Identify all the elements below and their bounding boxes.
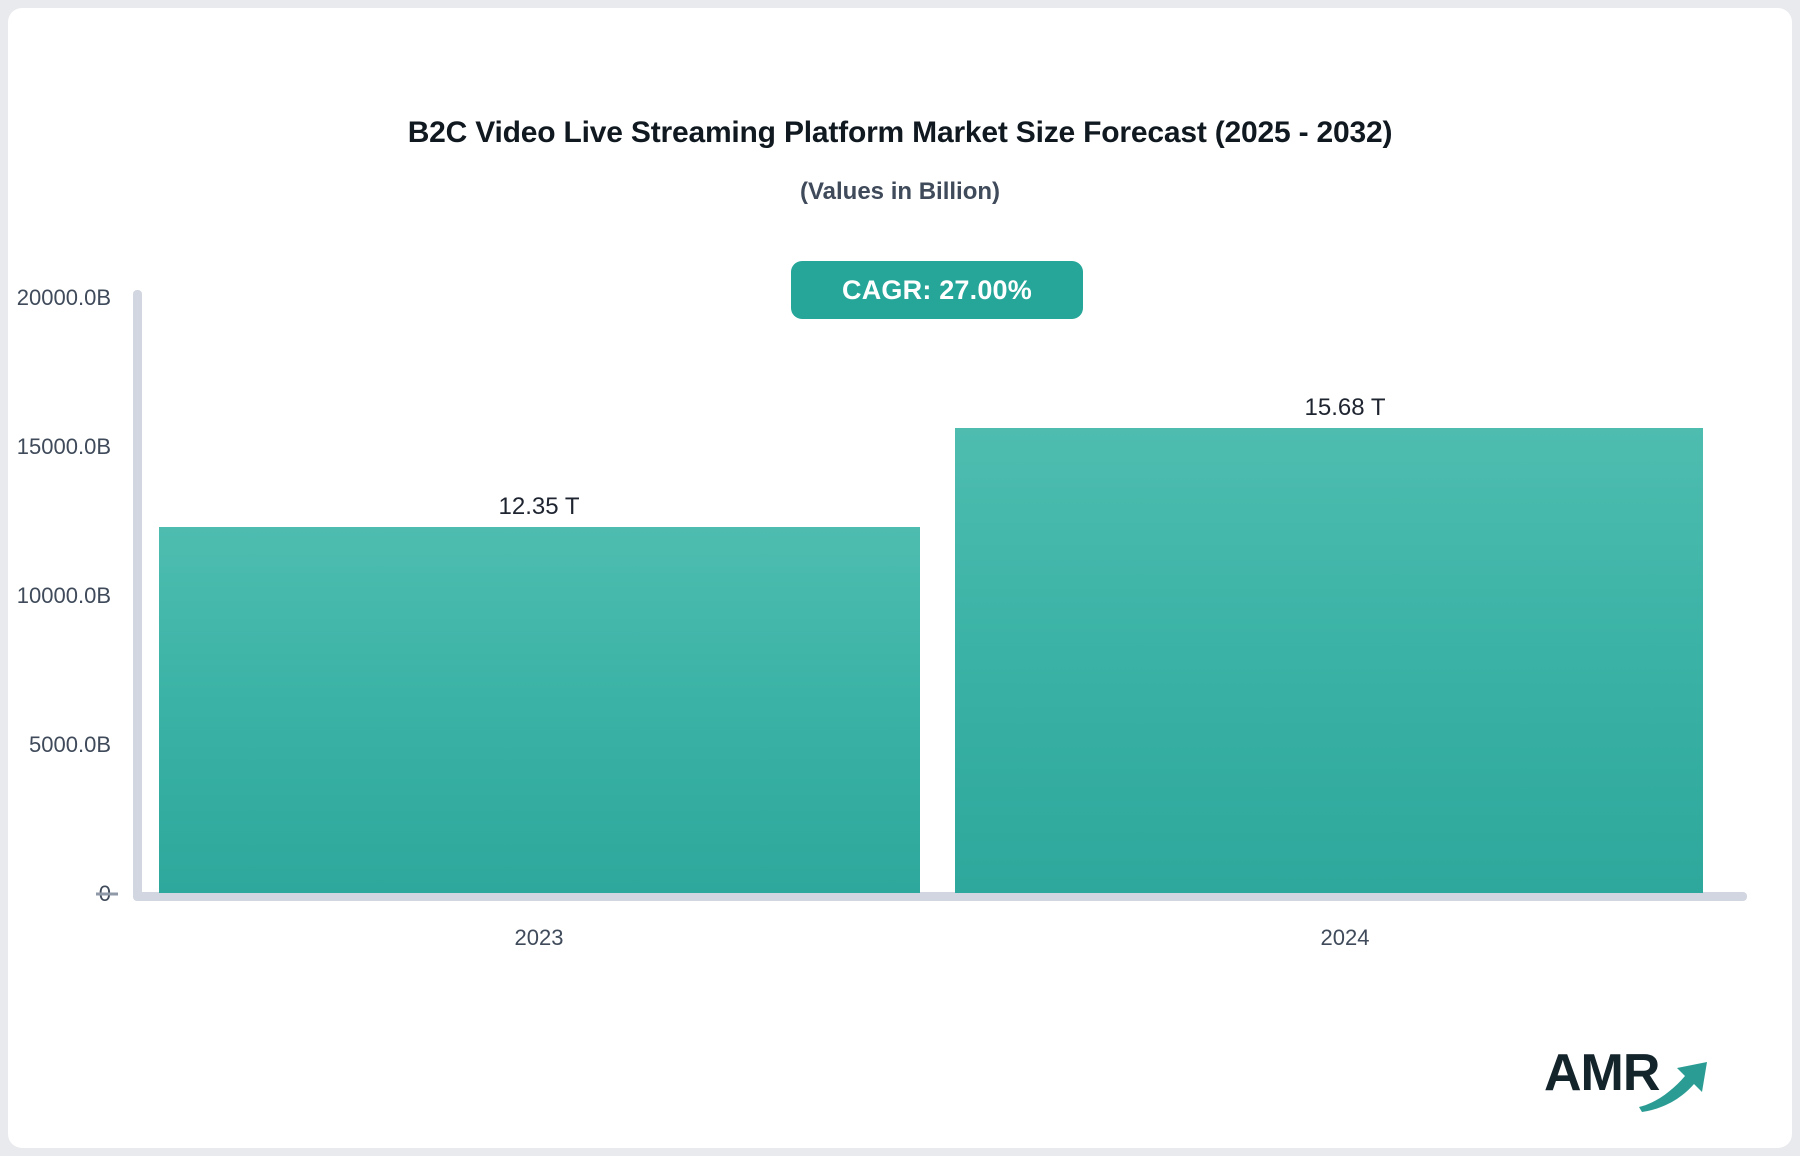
bar-value-2024: 15.68 T	[1305, 394, 1386, 422]
bar-2023[interactable]	[159, 527, 920, 893]
y-tick-label-15000: 15000.0B	[8, 434, 111, 460]
y-axis-line	[133, 290, 142, 898]
y-tick-label-5000: 5000.0B	[8, 732, 111, 758]
y-tick-label-20000: 20000.0B	[8, 285, 111, 311]
x-tick-label-2023: 2023	[515, 925, 564, 951]
chart-card: B2C Video Live Streaming Platform Market…	[8, 8, 1792, 1148]
y-tick-label-10000: 10000.0B	[8, 583, 111, 609]
bar-2024[interactable]	[955, 428, 1703, 893]
plot-area: 20000.0B 15000.0B 10000.0B 5000.0B 0 12.…	[8, 8, 1792, 1148]
y-tick-mark-0	[96, 893, 118, 896]
x-axis-line	[133, 892, 1747, 901]
amr-logo: AMR	[1544, 1043, 1734, 1115]
bar-value-2023: 12.35 T	[499, 493, 580, 521]
x-tick-label-2024: 2024	[1321, 925, 1370, 951]
growth-arrow-icon	[1544, 1043, 1734, 1115]
